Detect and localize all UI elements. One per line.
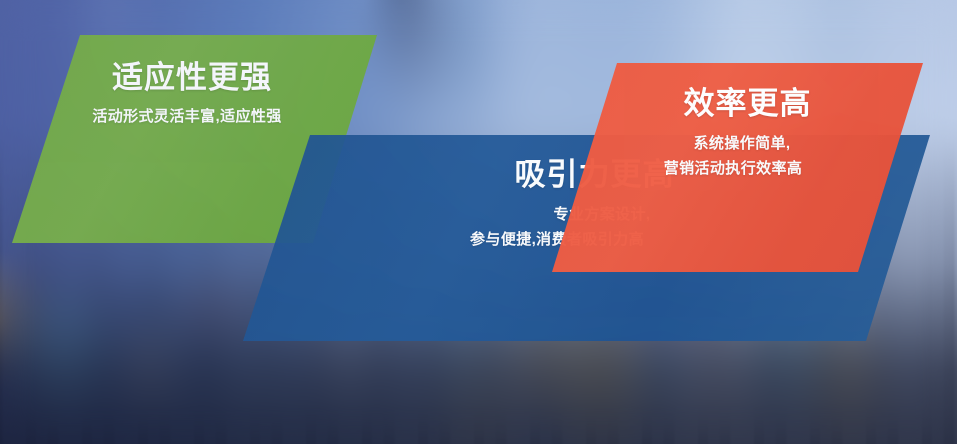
panel-title-efficiency: 效率更高	[684, 86, 812, 123]
panel-subtitle-efficiency-line-1: 系统操作简单,	[694, 133, 791, 154]
panel-subtitle-efficiency-line-2: 营销活动执行效率高	[664, 158, 803, 179]
panel-subtitle-adaptability-line-1: 活动形式灵活丰富,适应性强	[92, 106, 281, 127]
banner-stage: 适应性更强 活动形式灵活丰富,适应性强 吸引力更高 专业方案设计, 参与便捷,消…	[0, 0, 957, 444]
panel-title-adaptability: 适应性更强	[112, 60, 272, 97]
